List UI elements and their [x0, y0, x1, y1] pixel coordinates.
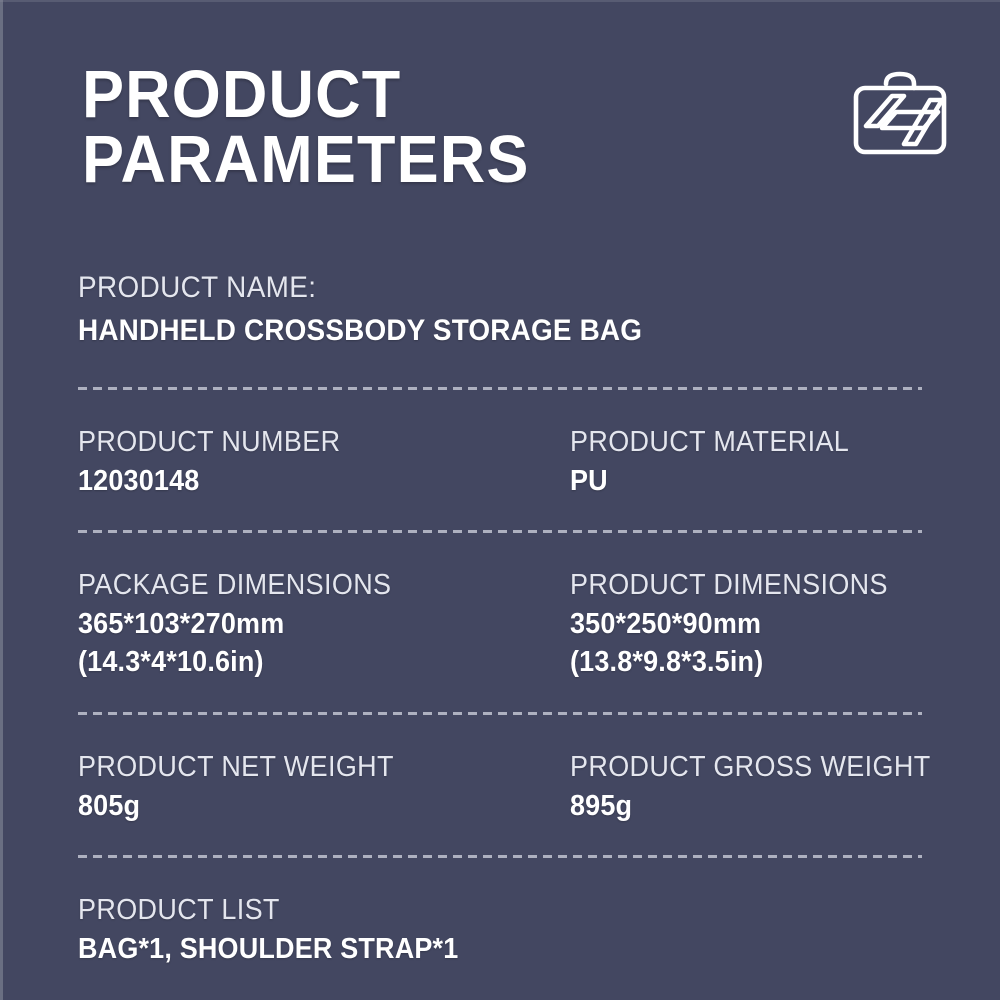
spec-cell-product-dimensions: PRODUCT DIMENSIONS 350*250*90mm (13.8*9.…: [570, 567, 922, 682]
net-weight-label: PRODUCT NET WEIGHT: [78, 749, 536, 787]
divider-3: [78, 712, 922, 715]
product-material-value: PU: [570, 462, 897, 501]
product-dimensions-value-mm: 350*250*90mm: [570, 605, 897, 644]
product-number-label: PRODUCT NUMBER: [78, 424, 536, 462]
product-list-value: BAG*1, SHOULDER STRAP*1: [78, 930, 863, 969]
spec-row-weights: PRODUCT NET WEIGHT 805g PRODUCT GROSS WE…: [78, 715, 922, 855]
spec-cell-package-dimensions: PACKAGE DIMENSIONS 365*103*270mm (14.3*4…: [78, 567, 570, 682]
product-name-block: PRODUCT NAME: HANDHELD CROSSBODY STORAGE…: [78, 268, 922, 387]
spec-row-number-material: PRODUCT NUMBER 12030148 PRODUCT MATERIAL…: [78, 390, 922, 530]
package-dimensions-value-in: (14.3*4*10.6in): [78, 643, 536, 682]
product-list-block: PRODUCT LIST BAG*1, SHOULDER STRAP*1: [78, 858, 922, 968]
product-parameters-page: PRODUCT PARAMETERS PRODUCT NAME: HANDHEL…: [0, 0, 1000, 1000]
spec-cell-product-material: PRODUCT MATERIAL PU: [570, 424, 922, 500]
spec-sheet: PRODUCT NAME: HANDHELD CROSSBODY STORAGE…: [0, 268, 1000, 968]
spec-row-dimensions: PACKAGE DIMENSIONS 365*103*270mm (14.3*4…: [78, 533, 922, 712]
page-header: PRODUCT PARAMETERS: [82, 62, 922, 192]
product-number-value: 12030148: [78, 462, 536, 501]
product-material-label: PRODUCT MATERIAL: [570, 424, 897, 462]
spec-cell-gross-weight: PRODUCT GROSS WEIGHT 895g: [570, 749, 958, 825]
briefcase-bag-icon: [848, 66, 952, 162]
spec-cell-net-weight: PRODUCT NET WEIGHT 805g: [78, 749, 570, 825]
page-title: PRODUCT PARAMETERS: [82, 62, 872, 192]
spec-cell-product-number: PRODUCT NUMBER 12030148: [78, 424, 570, 500]
spec-cell-product-list: PRODUCT LIST BAG*1, SHOULDER STRAP*1: [78, 892, 922, 968]
divider-1: [78, 387, 922, 390]
product-name-value: HANDHELD CROSSBODY STORAGE BAG: [78, 311, 863, 351]
product-dimensions-value-in: (13.8*9.8*3.5in): [570, 643, 897, 682]
net-weight-value: 805g: [78, 787, 536, 826]
gross-weight-value: 895g: [570, 787, 931, 826]
divider-2: [78, 530, 922, 533]
gross-weight-label: PRODUCT GROSS WEIGHT: [570, 749, 931, 787]
product-name-label: PRODUCT NAME:: [78, 268, 863, 307]
divider-4: [78, 855, 922, 858]
package-dimensions-label: PACKAGE DIMENSIONS: [78, 567, 536, 605]
package-dimensions-value-mm: 365*103*270mm: [78, 605, 536, 644]
page-title-line-1: PRODUCT: [82, 57, 401, 132]
page-title-line-2: PARAMETERS: [82, 127, 872, 192]
product-dimensions-label: PRODUCT DIMENSIONS: [570, 567, 897, 605]
product-list-label: PRODUCT LIST: [78, 892, 863, 930]
